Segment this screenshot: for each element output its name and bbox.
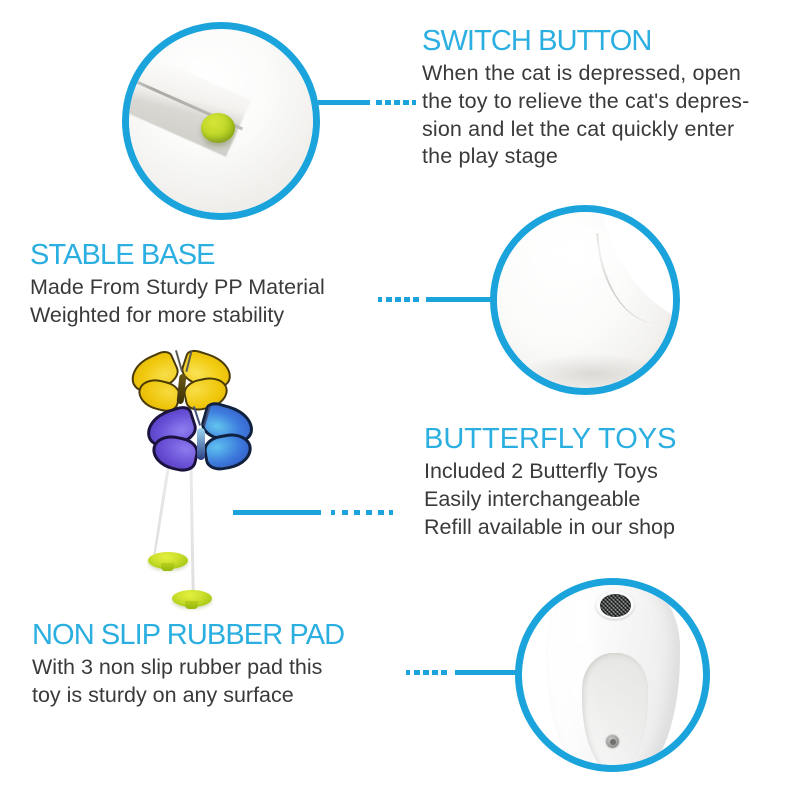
connector-line bbox=[233, 510, 321, 515]
connector-switch-button bbox=[318, 100, 414, 105]
rubber-pad-texture-icon bbox=[600, 594, 631, 617]
desc-line: the toy to relieve the cat's depres- bbox=[422, 88, 782, 116]
feature-title-non-slip-rubber-pad: NON SLIP RUBBER PAD bbox=[32, 620, 402, 651]
screw-icon bbox=[606, 735, 619, 748]
desc-line: sion and let the cat quickly enter bbox=[422, 116, 782, 144]
desc-line: With 3 non slip rubber pad this bbox=[32, 654, 402, 682]
connector-non-slip-rubber-pad bbox=[406, 670, 518, 675]
connector-line bbox=[318, 100, 370, 105]
desc-line: When the cat is depressed, open bbox=[422, 60, 782, 88]
rubber-pad-ring bbox=[596, 591, 634, 619]
rubber-pad-photo bbox=[522, 585, 703, 765]
feature-desc-stable-base: Made From Sturdy PP Material Weighted fo… bbox=[30, 274, 390, 329]
feature-title-butterfly-toys: BUTTERFLY TOYS bbox=[424, 424, 784, 455]
butterfly-body bbox=[197, 428, 205, 460]
body-groove bbox=[582, 653, 648, 765]
feature-title-switch-button: SWITCH BUTTON bbox=[422, 26, 782, 57]
blue-butterfly-icon bbox=[146, 404, 258, 482]
connector-butterfly-toys bbox=[233, 510, 393, 515]
green-attachment-disc bbox=[148, 552, 188, 569]
butterfly-toys-image bbox=[128, 352, 268, 612]
feature-desc-non-slip-rubber-pad: With 3 non slip rubber pad this toy is s… bbox=[32, 654, 402, 709]
feature-image-non-slip-rubber-pad bbox=[515, 578, 710, 772]
desc-line: the play stage bbox=[422, 143, 782, 171]
feature-image-switch-button bbox=[122, 22, 320, 220]
connector-dots bbox=[376, 100, 414, 105]
desc-line: Refill available in our shop bbox=[424, 514, 784, 542]
stable-base-photo bbox=[497, 212, 673, 388]
feature-text-butterfly-toys: BUTTERFLY TOYS Included 2 Butterfly Toys… bbox=[424, 424, 784, 541]
desc-line: Made From Sturdy PP Material bbox=[30, 274, 390, 302]
connector-stable-base bbox=[378, 297, 493, 302]
base-highlight bbox=[521, 218, 641, 288]
connector-line bbox=[455, 670, 518, 675]
switch-button-photo bbox=[129, 29, 313, 213]
green-switch-button-icon bbox=[201, 113, 235, 143]
desc-line: toy is sturdy on any surface bbox=[32, 682, 402, 710]
desc-line: Easily interchangeable bbox=[424, 486, 784, 514]
infographic-canvas: SWITCH BUTTON When the cat is depressed,… bbox=[0, 0, 800, 800]
feature-title-stable-base: STABLE BASE bbox=[30, 240, 390, 271]
connector-dots bbox=[406, 670, 448, 675]
feature-text-stable-base: STABLE BASE Made From Sturdy PP Material… bbox=[30, 240, 390, 330]
connector-dots bbox=[378, 297, 420, 302]
connector-dots bbox=[331, 510, 391, 515]
connector-line bbox=[426, 297, 493, 302]
feature-image-stable-base bbox=[490, 205, 680, 395]
feature-text-switch-button: SWITCH BUTTON When the cat is depressed,… bbox=[422, 26, 782, 171]
green-attachment-disc bbox=[172, 590, 212, 607]
desc-line: Weighted for more stability bbox=[30, 302, 390, 330]
base-drop-shadow bbox=[517, 354, 667, 388]
feature-desc-butterfly-toys: Included 2 Butterfly Toys Easily interch… bbox=[424, 458, 784, 541]
feature-desc-switch-button: When the cat is depressed, open the toy … bbox=[422, 60, 782, 171]
desc-line: Included 2 Butterfly Toys bbox=[424, 458, 784, 486]
feature-text-non-slip-rubber-pad: NON SLIP RUBBER PAD With 3 non slip rubb… bbox=[32, 620, 402, 710]
